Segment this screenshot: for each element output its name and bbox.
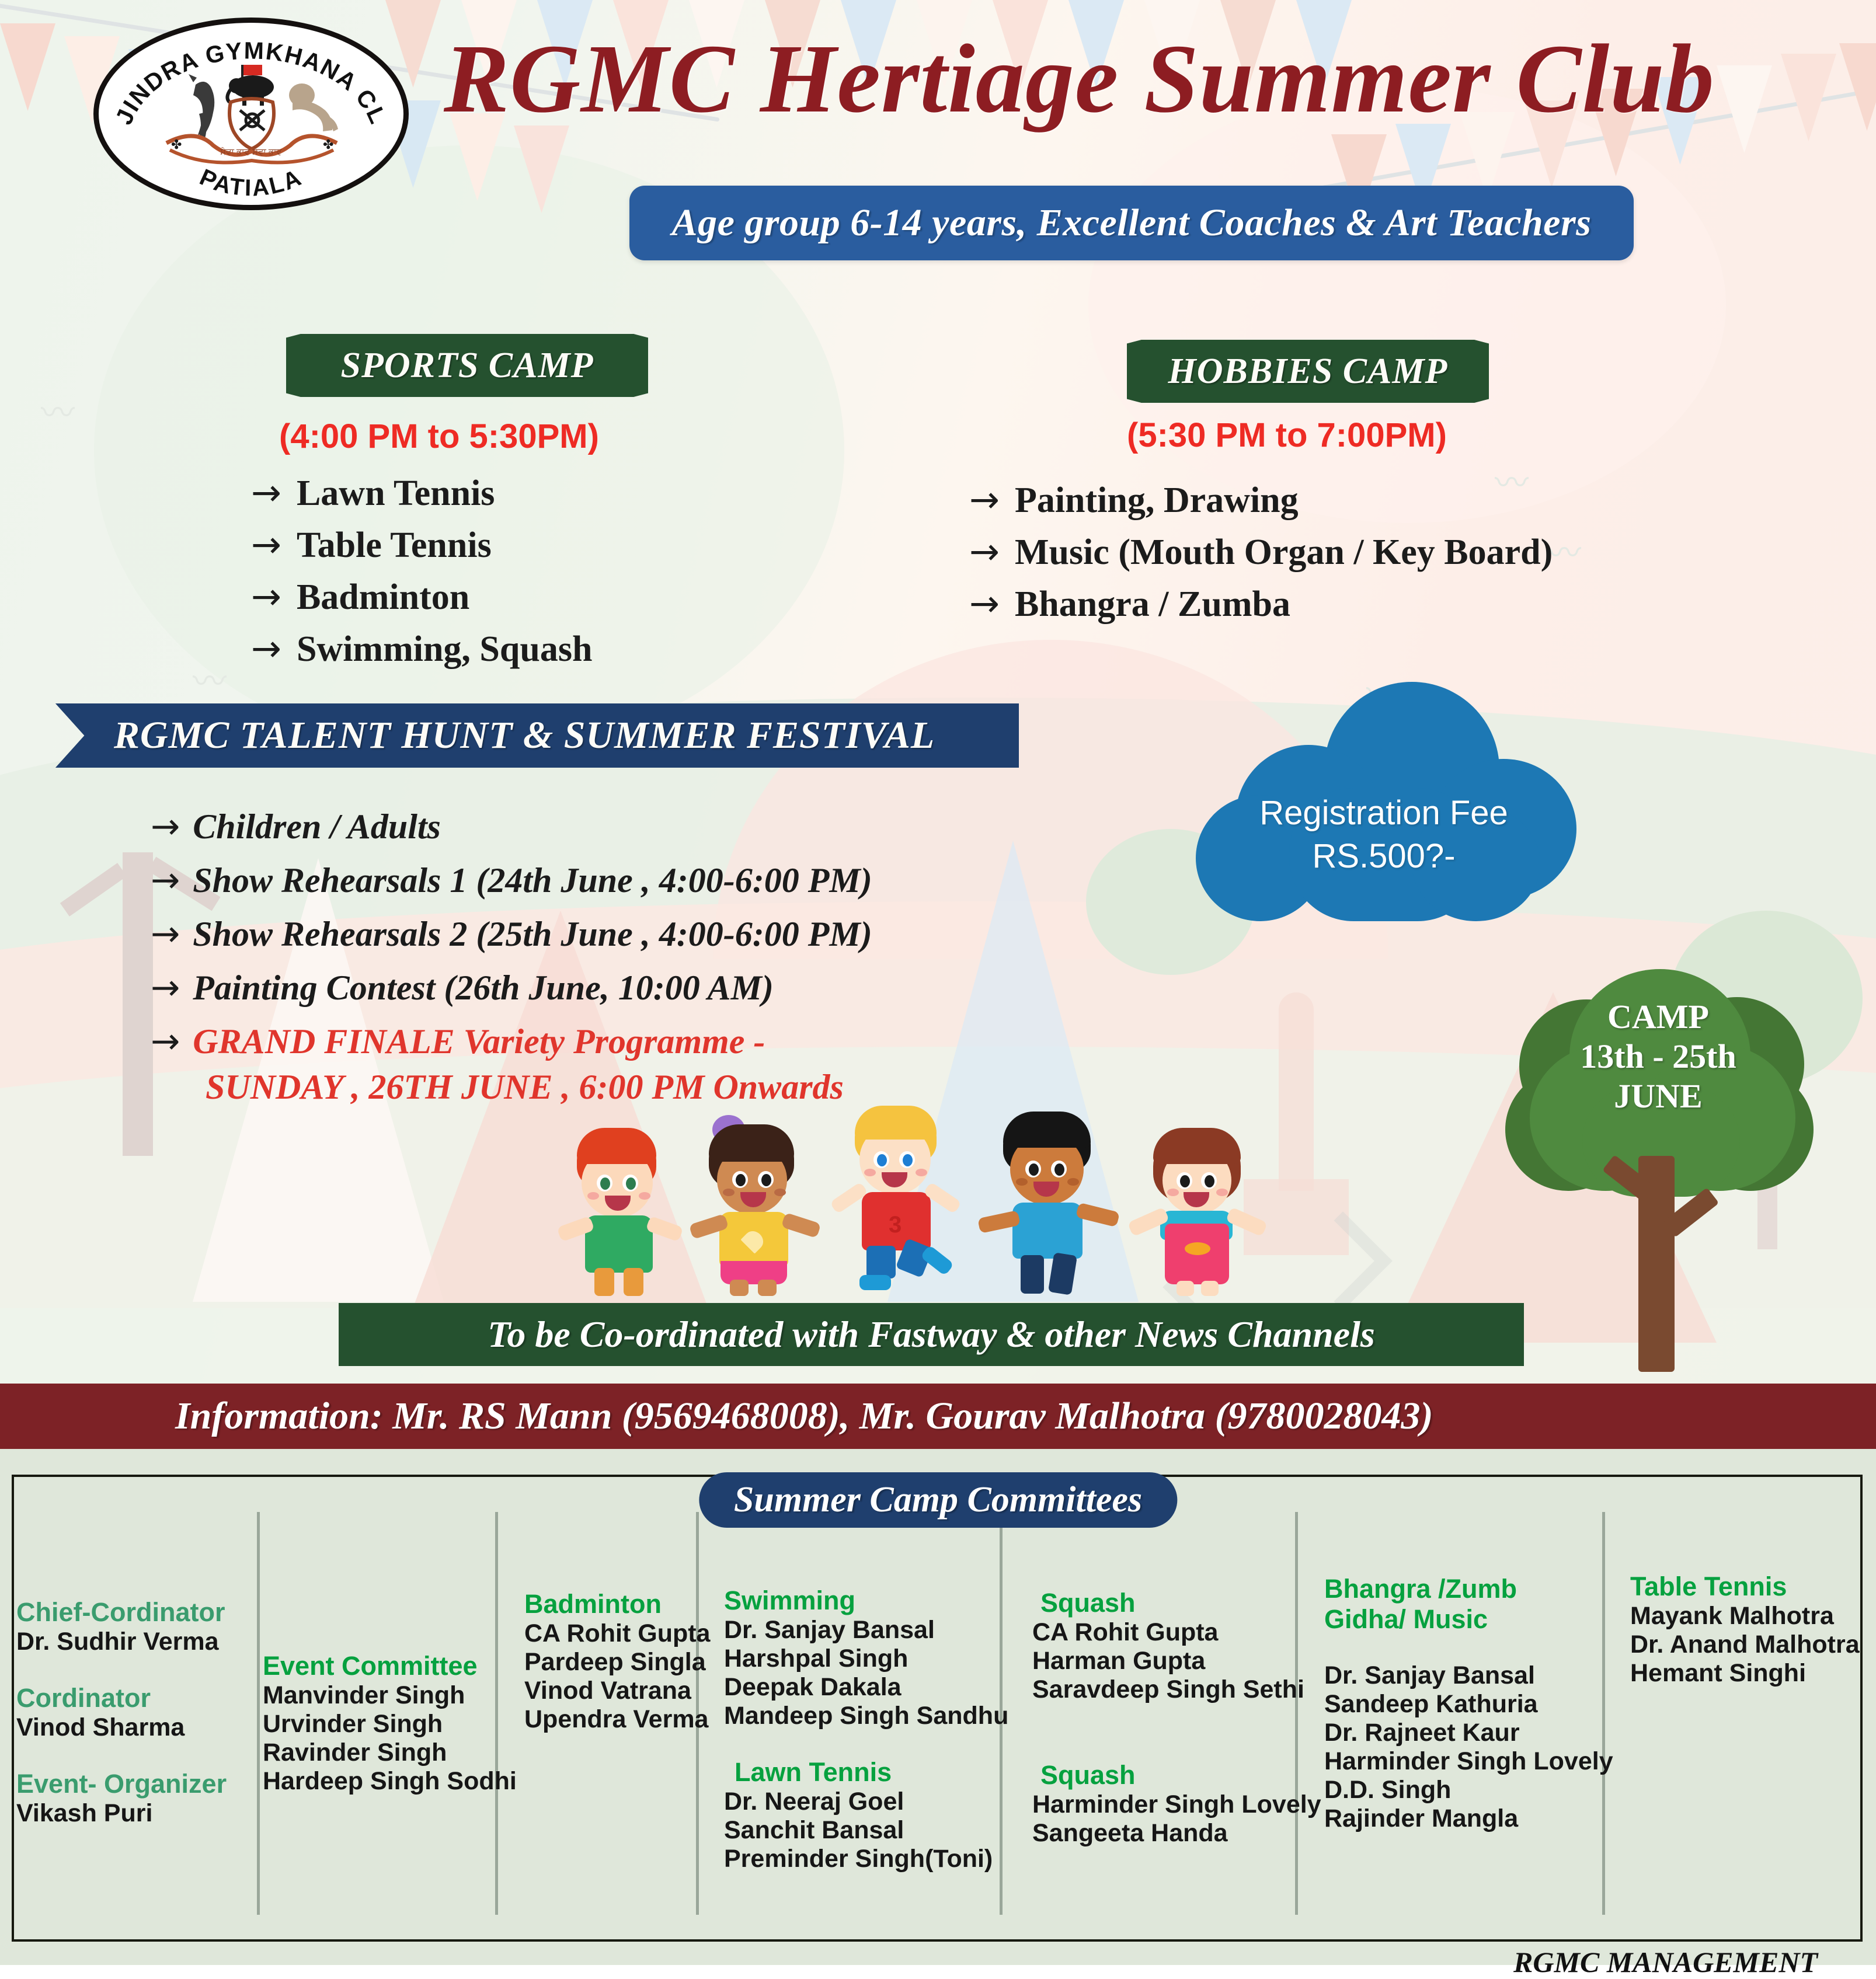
child-pupil bbox=[1054, 1163, 1064, 1176]
committee-member: Saravdeep Singh Sethi bbox=[1032, 1675, 1307, 1704]
registration-fee-line2: RS.500?- bbox=[1179, 835, 1588, 878]
club-logo: RAJINDRA GYMKHANA CLUB PATIALA bbox=[93, 18, 409, 210]
committee-member: Vikash Puri bbox=[16, 1799, 250, 1828]
age-group-banner: Age group 6-14 years, Excellent Coaches … bbox=[629, 186, 1634, 260]
camp-dates-text: CAMP 13th - 25th JUNE bbox=[1495, 997, 1822, 1116]
list-item: →Lawn Tennis bbox=[251, 467, 593, 519]
talent-item-label: Show Rehearsals 1 (24th June , 4:00-6:00… bbox=[193, 853, 872, 907]
committee-member: Dr. Sudhir Verma bbox=[16, 1628, 250, 1656]
child-pupil bbox=[903, 1154, 913, 1166]
committee-member: Deepak Dakala bbox=[724, 1673, 998, 1702]
child-hair bbox=[709, 1124, 794, 1162]
sports-item-label: Badminton bbox=[297, 572, 469, 623]
child-leg bbox=[758, 1280, 777, 1296]
information-bar-text: Information: Mr. RS Mann (9569468008), M… bbox=[0, 1394, 1433, 1438]
committee-column-2: Event Committee Manvinder Singh Urvinder… bbox=[263, 1651, 496, 1796]
list-item-grand-finale: →GRAND FINALE Variety Programme - bbox=[151, 1015, 872, 1068]
child-pupil bbox=[736, 1174, 746, 1186]
svg-text:ਸੇਵਾ ਭਾਵ ਸੇਵਾ ਭਾਵ: ਸੇਵਾ ਭਾਵ ਸੇਵਾ ਭਾਵ bbox=[220, 147, 282, 157]
child-cheek bbox=[1216, 1189, 1228, 1196]
arrow-right-icon: → bbox=[251, 571, 281, 622]
committee-member: Rajinder Mangla bbox=[1324, 1804, 1604, 1833]
child-pupil bbox=[761, 1174, 771, 1186]
child-leg bbox=[624, 1268, 643, 1296]
list-item: →Show Rehearsals 1 (24th June , 4:00-6:0… bbox=[151, 853, 872, 907]
child-pupil bbox=[626, 1177, 636, 1190]
sports-camp-heading: SPORTS CAMP bbox=[286, 334, 648, 397]
arrow-right-icon: → bbox=[151, 853, 180, 907]
child-cheek bbox=[774, 1189, 786, 1196]
child-figure-3: 3 bbox=[823, 1103, 975, 1296]
list-item: →Children / Adults bbox=[151, 800, 872, 853]
child-shoe bbox=[859, 1275, 891, 1290]
sports-camp-list: →Lawn Tennis →Table Tennis →Badminton →S… bbox=[251, 467, 593, 675]
logo-arc-bottom-text: PATIALA bbox=[196, 164, 306, 201]
hobbies-camp-time: (5:30 PM to 7:00PM) bbox=[1127, 416, 1447, 455]
camp-dates-tree: CAMP 13th - 25th JUNE bbox=[1495, 963, 1822, 1372]
gull-icon-1: 〰 bbox=[41, 385, 75, 434]
gull-icon-2: 〰 bbox=[193, 654, 227, 703]
talent-item-label: Show Rehearsals 2 (25th June , 4:00-6:00… bbox=[193, 907, 872, 961]
committee-member: Mayank Malhotra bbox=[1630, 1602, 1864, 1630]
child-figure-4 bbox=[975, 1109, 1127, 1296]
child-cheek bbox=[916, 1169, 927, 1176]
grand-finale-line1: GRAND FINALE Variety Programme - bbox=[193, 1015, 765, 1068]
hobbies-camp-list: →Painting, Drawing →Music (Mouth Organ /… bbox=[969, 474, 1553, 630]
svg-text:✤: ✤ bbox=[323, 137, 333, 152]
committee-member: Harman Gupta bbox=[1032, 1647, 1307, 1675]
committee-member: CA Rohit Gupta bbox=[524, 1619, 723, 1648]
child-body bbox=[585, 1215, 653, 1273]
committee-member: Dr. Rajneet Kaur bbox=[1324, 1719, 1604, 1747]
child-shoe bbox=[920, 1245, 955, 1276]
child-pupil bbox=[877, 1154, 887, 1166]
committee-member: Pardeep Singla bbox=[524, 1648, 723, 1677]
child-cheek bbox=[587, 1192, 599, 1200]
committee-column-7: Table Tennis Mayank Malhotra Dr. Anand M… bbox=[1630, 1572, 1864, 1688]
committee-member: Vinod Vatrana bbox=[524, 1677, 723, 1705]
child-cheek bbox=[1167, 1189, 1179, 1196]
child-leg bbox=[730, 1280, 749, 1296]
list-item: →Show Rehearsals 2 (25th June , 4:00-6:0… bbox=[151, 907, 872, 961]
child-leg bbox=[1177, 1281, 1194, 1296]
arrow-right-icon: → bbox=[969, 474, 1000, 525]
list-item: →Painting, Drawing bbox=[969, 474, 1553, 526]
child-cheek bbox=[1016, 1178, 1028, 1186]
sports-item-label: Table Tennis bbox=[297, 520, 492, 571]
list-item: →Swimming, Squash bbox=[251, 623, 593, 675]
child-cheek bbox=[639, 1192, 650, 1200]
committee-column-1: Chief-Cordinator Dr. Sudhir Verma Cordin… bbox=[16, 1597, 250, 1828]
talent-item-label: Children / Adults bbox=[193, 800, 441, 853]
committee-group-heading: Table Tennis bbox=[1630, 1572, 1864, 1602]
committee-title-text: Summer Camp Committees bbox=[734, 1480, 1142, 1520]
sports-item-label: Lawn Tennis bbox=[297, 468, 495, 519]
committee-member: Upendra Verma bbox=[524, 1705, 723, 1734]
committee-member: Mandeep Singh Sandhu bbox=[724, 1702, 998, 1730]
spacer bbox=[724, 1730, 998, 1757]
child-hair bbox=[1003, 1112, 1091, 1148]
sports-camp-heading-text: SPORTS CAMP bbox=[340, 345, 593, 386]
committee-group-heading: Swimming bbox=[724, 1586, 998, 1616]
child-cheek bbox=[864, 1169, 876, 1176]
child-hair bbox=[1153, 1128, 1241, 1164]
talent-hunt-heading: RGMC TALENT HUNT & SUMMER FESTIVAL bbox=[55, 703, 1019, 768]
child-figure-2 bbox=[683, 1115, 829, 1296]
committee-member: Vinod Sharma bbox=[16, 1713, 250, 1742]
list-item: →Painting Contest (26th June, 10:00 AM) bbox=[151, 961, 872, 1015]
committee-member: Hardeep Singh Sodhi bbox=[263, 1767, 496, 1796]
child-pupil bbox=[1205, 1175, 1214, 1187]
arrow-right-icon: → bbox=[151, 1015, 180, 1068]
committee-column-4: Swimming Dr. Sanjay Bansal Harshpal Sing… bbox=[724, 1586, 998, 1873]
child-pupil bbox=[1029, 1163, 1039, 1176]
svg-text:✤: ✤ bbox=[171, 137, 182, 152]
sports-camp-time: (4:00 PM to 5:30PM) bbox=[279, 417, 599, 456]
committee-member: Sanchit Bansal bbox=[724, 1816, 998, 1845]
camp-dates-line3: JUNE bbox=[1495, 1076, 1822, 1116]
list-item: →Bhangra / Zumba bbox=[969, 578, 1553, 630]
spacer bbox=[16, 1742, 250, 1769]
age-group-text: Age group 6-14 years, Excellent Coaches … bbox=[672, 201, 1592, 245]
camp-dates-line1: CAMP bbox=[1495, 997, 1822, 1037]
committee-column-3: Badminton CA Rohit Gupta Pardeep Singla … bbox=[524, 1589, 723, 1734]
grand-finale-line2: SUNDAY , 26TH JUNE , 6:00 PM Onwards bbox=[206, 1067, 844, 1107]
committee-title-badge: Summer Camp Committees bbox=[699, 1472, 1177, 1528]
committee-member: Dr. Neeraj Goel bbox=[724, 1788, 998, 1816]
committee-group-heading: Squash bbox=[1032, 1588, 1307, 1618]
child-leg bbox=[866, 1246, 896, 1278]
committee-member: Manvinder Singh bbox=[263, 1681, 496, 1710]
bunting-flag bbox=[0, 23, 55, 111]
committee-group-heading: Badminton bbox=[524, 1589, 723, 1619]
child-hair bbox=[577, 1128, 656, 1164]
committee-member: Ravinder Singh bbox=[263, 1738, 496, 1767]
committee-group-heading: Event Committee bbox=[263, 1651, 496, 1681]
committee-group-heading: Squash bbox=[1032, 1760, 1307, 1790]
committee-member: Dr. Sanjay Bansal bbox=[724, 1616, 998, 1644]
committee-member: Harminder Singh Lovely bbox=[1032, 1790, 1307, 1819]
committee-group-heading: Cordinator bbox=[16, 1683, 250, 1713]
camp-dates-line2: 13th - 25th bbox=[1495, 1037, 1822, 1076]
hobbies-item-label: Painting, Drawing bbox=[1015, 475, 1299, 526]
child-hair bbox=[855, 1106, 937, 1140]
child-pupil bbox=[1180, 1175, 1190, 1187]
arrow-right-icon: → bbox=[151, 907, 180, 961]
committee-member: Harminder Singh Lovely bbox=[1324, 1747, 1604, 1776]
registration-fee-cloud: Registration Fee RS.500?- bbox=[1179, 682, 1588, 927]
child-leg bbox=[1048, 1252, 1077, 1295]
child-dress-bow bbox=[1185, 1242, 1210, 1255]
arrow-right-icon: → bbox=[251, 519, 281, 570]
committee-group-heading: Chief-Cordinator bbox=[16, 1597, 250, 1628]
column-divider bbox=[257, 1512, 260, 1915]
committee-member: CA Rohit Gupta bbox=[1032, 1618, 1307, 1647]
committee-member: D.D. Singh bbox=[1324, 1776, 1604, 1804]
committee-member: Harshpal Singh bbox=[724, 1644, 998, 1673]
child-figure-1 bbox=[549, 1121, 695, 1296]
committee-group-heading: Event- Organizer bbox=[16, 1769, 250, 1799]
talent-hunt-heading-text: RGMC TALENT HUNT & SUMMER FESTIVAL bbox=[55, 713, 935, 758]
logo-crest-emblem: ਸੇਵਾ ਭਾਵ ਸੇਵਾ ਭਾਵ ✤ ✤ bbox=[155, 61, 347, 166]
arrow-right-icon: → bbox=[251, 467, 281, 518]
sports-item-label: Swimming, Squash bbox=[297, 623, 593, 675]
talent-item-label: Painting Contest (26th June, 10:00 AM) bbox=[193, 961, 774, 1015]
arrow-right-icon: → bbox=[969, 578, 1000, 629]
list-item: →Badminton bbox=[251, 571, 593, 623]
committee-column-5: Squash CA Rohit Gupta Harman Gupta Sarav… bbox=[1032, 1588, 1307, 1848]
hobbies-item-label: Bhangra / Zumba bbox=[1015, 579, 1290, 630]
committee-column-6: Bhangra /Zumb Gidha/ Music Dr. Sanjay Ba… bbox=[1324, 1574, 1604, 1833]
arrow-right-icon: → bbox=[151, 800, 180, 853]
committee-member: Sandeep Kathuria bbox=[1324, 1690, 1604, 1719]
spacer bbox=[1324, 1635, 1604, 1661]
page-title: RGMC Hertiage Summer Club bbox=[444, 20, 1845, 137]
committee-member: Sangeeta Handa bbox=[1032, 1819, 1307, 1848]
svg-text:PATIALA: PATIALA bbox=[196, 164, 306, 201]
talent-hunt-list: →Children / Adults →Show Rehearsals 1 (2… bbox=[151, 800, 872, 1068]
registration-fee-line1: Registration Fee bbox=[1179, 792, 1588, 835]
hobbies-camp-heading-text: HOBBIES CAMP bbox=[1168, 351, 1448, 392]
child-leg bbox=[594, 1268, 614, 1296]
list-item: →Table Tennis bbox=[251, 519, 593, 571]
registration-fee-text: Registration Fee RS.500?- bbox=[1179, 792, 1588, 878]
committee-member: Dr. Anand Malhotra bbox=[1630, 1630, 1864, 1659]
committee-member: Preminder Singh(Toni) bbox=[724, 1845, 998, 1873]
child-pupil bbox=[600, 1177, 610, 1190]
information-bar: Information: Mr. RS Mann (9569468008), M… bbox=[0, 1384, 1876, 1449]
committee-group-heading: Bhangra /Zumb Gidha/ Music bbox=[1324, 1574, 1604, 1635]
committee-member: Urvinder Singh bbox=[263, 1710, 496, 1738]
spacer bbox=[16, 1656, 250, 1683]
committee-columns: Chief-Cordinator Dr. Sudhir Verma Cordin… bbox=[0, 1576, 1876, 1938]
committee-member: Hemant Singhi bbox=[1630, 1659, 1864, 1688]
poster-root: 〰 〰 〰 〰 〰 bbox=[0, 0, 1876, 1965]
committee-group-heading: Lawn Tennis bbox=[724, 1757, 998, 1788]
list-item: →Music (Mouth Organ / Key Board) bbox=[969, 526, 1553, 578]
committee-member: Dr. Sanjay Bansal bbox=[1324, 1661, 1604, 1690]
arrow-right-icon: → bbox=[151, 961, 180, 1015]
children-illustration: 3 bbox=[549, 1103, 1320, 1296]
arrow-right-icon: → bbox=[251, 623, 281, 674]
hobbies-camp-heading: HOBBIES CAMP bbox=[1127, 340, 1489, 403]
coordination-bar: To be Co-ordinated with Fastway & other … bbox=[339, 1303, 1524, 1366]
child-figure-5 bbox=[1124, 1115, 1276, 1296]
child-leg bbox=[1021, 1255, 1044, 1294]
committee-footer: RGMC MANAGEMENT bbox=[1513, 1945, 1818, 1979]
child-cheek bbox=[723, 1189, 735, 1196]
child-cheek bbox=[1067, 1178, 1079, 1186]
spacer bbox=[1032, 1704, 1307, 1760]
arrow-right-icon: → bbox=[969, 526, 1000, 577]
hobbies-item-label: Music (Mouth Organ / Key Board) bbox=[1015, 527, 1553, 578]
child-body bbox=[1012, 1203, 1083, 1259]
coordination-bar-text: To be Co-ordinated with Fastway & other … bbox=[488, 1313, 1375, 1356]
child-leg bbox=[1201, 1281, 1219, 1296]
child-shirt-number: 3 bbox=[889, 1212, 902, 1238]
